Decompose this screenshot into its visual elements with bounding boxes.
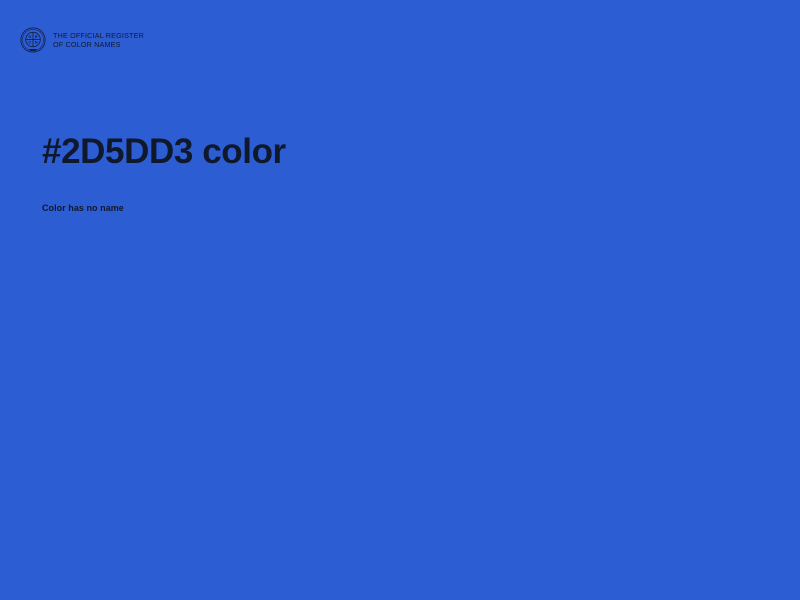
register-seal-icon: O R C N [20, 27, 46, 53]
color-info: #2D5DD3 color Color has no name [42, 130, 742, 214]
color-name-status: Color has no name [42, 174, 742, 214]
svg-text:O: O [28, 35, 31, 39]
svg-text:N: N [35, 41, 38, 45]
brand-title: THE OFFICIAL REGISTER OF COLOR NAMES [53, 31, 144, 49]
color-page: O R C N THE OFFICIAL REGISTER OF COLOR N… [0, 0, 800, 600]
brand-title-line-2: OF COLOR NAMES [53, 41, 144, 50]
svg-text:C: C [28, 41, 31, 45]
page-title: #2D5DD3 color [42, 130, 742, 174]
svg-text:R: R [35, 35, 38, 39]
site-brand[interactable]: O R C N THE OFFICIAL REGISTER OF COLOR N… [20, 27, 144, 53]
